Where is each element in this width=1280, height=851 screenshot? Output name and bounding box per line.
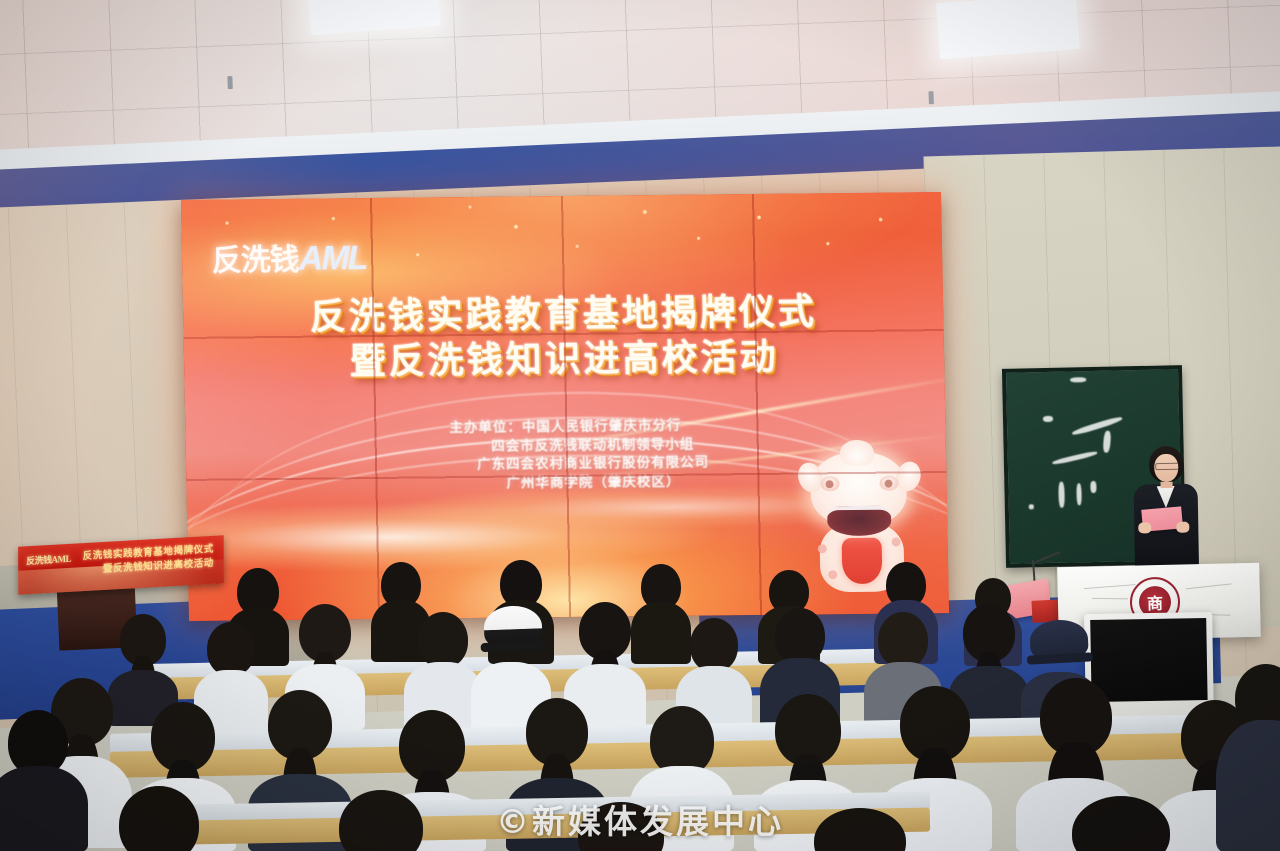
audience-member	[790, 808, 930, 851]
glasses-icon	[1155, 463, 1179, 470]
host-line-3: 广东四会农村商业银行股份有限公司	[477, 454, 709, 475]
presenter	[1127, 445, 1205, 574]
mascot-eye	[820, 476, 839, 491]
audience-member	[556, 802, 686, 851]
ceiling-panel-light	[936, 0, 1080, 59]
mascot-eye	[879, 476, 898, 491]
mascot-horn	[840, 440, 874, 466]
host-line-2: 四会市反洗钱联动机制领导小组	[491, 435, 694, 456]
audience-seating	[0, 560, 1280, 851]
sprinkler-head-icon	[928, 91, 933, 104]
audience-member	[1046, 796, 1196, 851]
lecture-hall-photo: 反洗钱AML 反洗钱实践教育基地揭牌仪式 暨反洗钱知识进高校活动 主办单位：中国…	[0, 0, 1280, 851]
host-line-4: 广州华商学院（肇庆校区）	[506, 473, 680, 493]
sprinkler-head-icon	[227, 76, 232, 89]
audience-member	[96, 786, 222, 851]
logo-text: 反洗钱AML	[211, 234, 366, 280]
presenter-hand	[1176, 522, 1189, 533]
event-title: 反洗钱实践教育基地揭牌仪式 暨反洗钱知识进高校活动	[183, 288, 945, 385]
event-title-line-1: 反洗钱实践教育基地揭牌仪式	[183, 288, 944, 341]
presenter-hand	[1138, 522, 1151, 533]
led-video-wall: 反洗钱AML 反洗钱实践教育基地揭牌仪式 暨反洗钱知识进高校活动 主办单位：中国…	[181, 192, 949, 621]
audience-member	[316, 790, 446, 851]
host-line-1: 主办单位：中国人民银行肇庆市分行	[449, 417, 681, 438]
logo-abbr: AML	[298, 239, 366, 278]
anti-money-laundering-logo: 反洗钱AML	[218, 228, 361, 285]
audience-member	[0, 710, 86, 851]
event-title-line-2: 暨反洗钱知识进高校活动	[184, 333, 945, 386]
audience-member	[1218, 664, 1280, 851]
